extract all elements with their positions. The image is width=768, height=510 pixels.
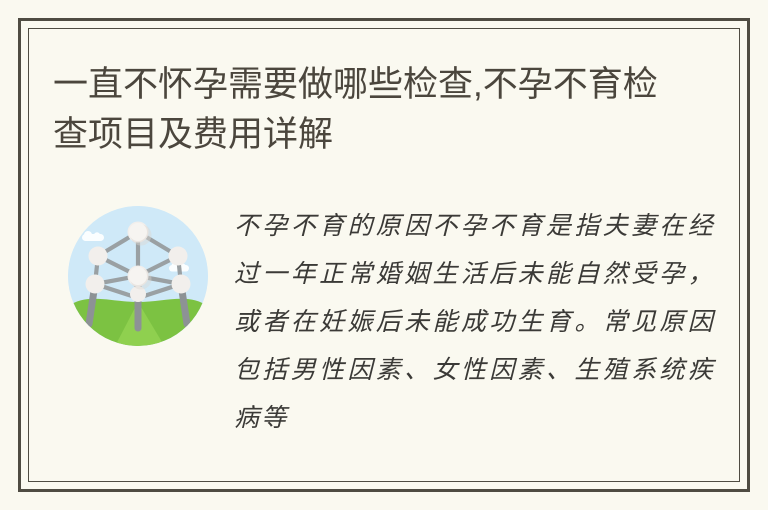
atomium-monument-icon [68, 206, 208, 346]
article-card: 一直不怀孕需要做哪些检查,不孕不育检查项目及费用详解 [0, 0, 768, 510]
page-title: 一直不怀孕需要做哪些检查,不孕不育检查项目及费用详解 [53, 60, 673, 160]
article-content: 不孕不育的原因不孕不育是指夫妻在经过一年正常婚姻生活后未能自然受孕，或者在妊娠后… [53, 196, 715, 470]
article-thumbnail [68, 206, 208, 346]
article-body: 不孕不育的原因不孕不育是指夫妻在经过一年正常婚姻生活后未能自然受孕，或者在妊娠后… [234, 202, 715, 442]
